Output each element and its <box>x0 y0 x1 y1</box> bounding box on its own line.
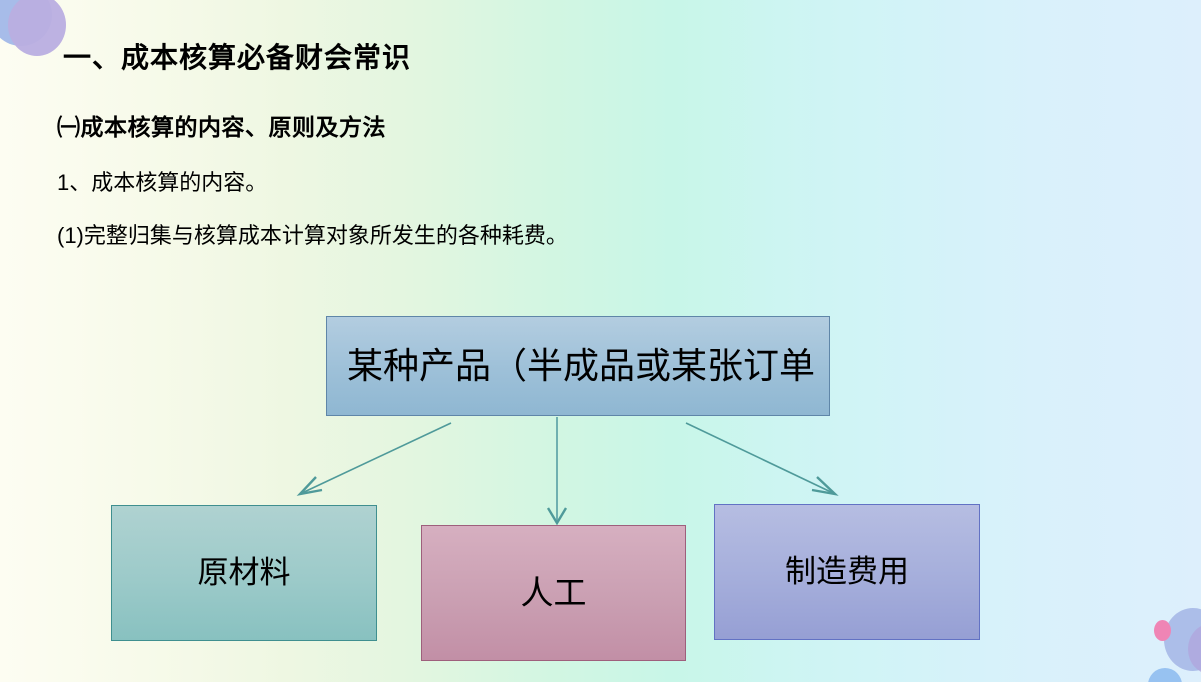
diagram-box-raw-material[interactable]: 原材料 <box>111 505 377 641</box>
diagram-box-manufacturing-overhead-label: 制造费用 <box>785 555 909 589</box>
decorative-circle-violet-icon <box>1188 624 1201 674</box>
connector-arrow-right <box>686 423 835 494</box>
diagram-box-parent-label: 某种产品（半成品或某张订单 <box>347 346 815 386</box>
slide-canvas: 一、成本核算必备财会常识 ㈠成本核算的内容、原则及方法 1、成本核算的内容。 (… <box>0 0 1201 682</box>
connector-arrow-left <box>300 423 451 494</box>
body-line-2: (1)完整归集与核算成本计算对象所发生的各种耗费。 <box>57 218 568 250</box>
decorative-circle-pink-icon <box>1154 620 1171 641</box>
diagram-box-manufacturing-overhead[interactable]: 制造费用 <box>714 504 980 640</box>
diagram-box-parent-product[interactable]: 某种产品（半成品或某张订单 <box>326 316 830 416</box>
decorative-circle-skyblue-icon <box>1148 668 1182 682</box>
body-line-1: 1、成本核算的内容。 <box>57 165 267 197</box>
section-subtitle: ㈠成本核算的内容、原则及方法 <box>57 108 386 142</box>
decorative-circle-periwinkle-icon <box>1164 608 1201 671</box>
decorative-circle-blue-icon <box>0 0 52 46</box>
diagram-box-labor-label: 人工 <box>521 575 587 611</box>
decorative-circle-purple-icon <box>8 0 66 56</box>
diagram-box-labor[interactable]: 人工 <box>421 525 686 661</box>
diagram-box-raw-material-label: 原材料 <box>198 556 291 590</box>
page-title: 一、成本核算必备财会常识 <box>63 36 411 76</box>
connector-arrow-middle <box>548 417 566 523</box>
